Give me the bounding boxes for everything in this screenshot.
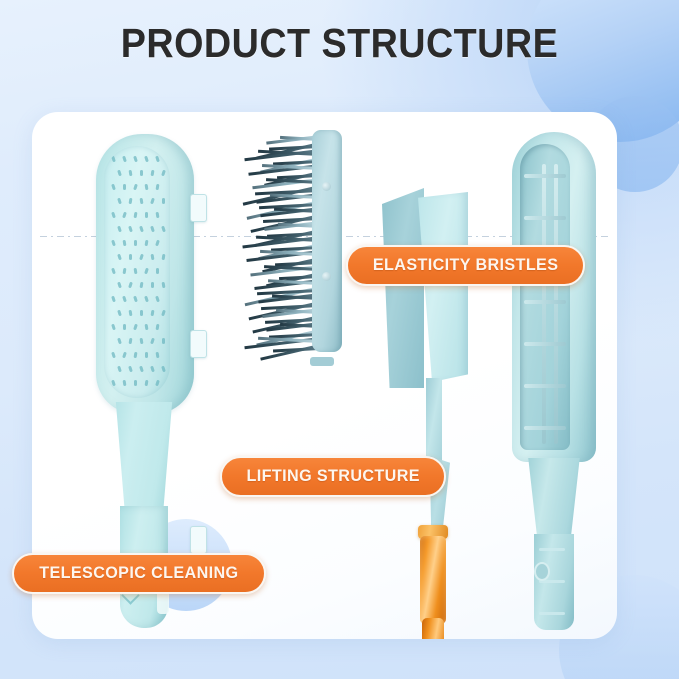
back-plate-rib-1 — [524, 174, 566, 178]
back-plate-taper — [526, 458, 582, 538]
component-perforated-brush-head — [78, 134, 228, 604]
telescoping-rod-segment-2 — [422, 618, 444, 639]
label-elasticity-bristles-text: ELASTICITY BRISTLES — [373, 255, 558, 275]
telescoping-rod-segment-1 — [420, 536, 446, 624]
label-lifting-structure-text: LIFTING STRUCTURE — [247, 466, 420, 486]
label-lifting-structure[interactable]: LIFTING STRUCTURE — [220, 456, 446, 497]
infographic-canvas: PRODUCT STRUCTURE — [0, 0, 679, 679]
back-plate-hole — [534, 562, 550, 581]
back-plate-cavity — [520, 144, 570, 450]
back-plate-rib-6 — [524, 384, 566, 388]
back-plate-rib-5 — [524, 342, 566, 346]
bristle-plate-dot-lower — [322, 272, 331, 281]
component-bristle-pad — [228, 130, 358, 360]
label-elasticity-bristles[interactable]: ELASTICITY BRISTLES — [346, 245, 585, 286]
bristle-plate-foot — [310, 357, 334, 366]
bristle-plate-dot-upper — [322, 182, 331, 191]
brush-head-tab-mid — [190, 330, 207, 358]
back-plate-rib-2 — [524, 216, 566, 220]
bristle-backing-plate — [312, 130, 342, 352]
back-plate-rib-4 — [524, 300, 566, 304]
perforation-holes — [104, 146, 170, 398]
page-title: PRODUCT STRUCTURE — [27, 20, 652, 66]
back-plate-grip-line-1 — [539, 548, 565, 551]
lifting-block-left-face — [382, 188, 424, 388]
back-plate-grip — [534, 534, 574, 630]
back-plate-vertical-rib-1 — [542, 164, 546, 444]
back-plate-grip-line-3 — [539, 612, 565, 615]
label-telescopic-cleaning[interactable]: TELESCOPIC CLEANING — [12, 553, 266, 594]
brush-head-tab-lower — [190, 526, 207, 554]
back-plate-rib-7 — [524, 426, 566, 430]
brush-head-neck — [112, 402, 176, 512]
component-back-plate — [504, 132, 617, 612]
brush-head-perforated-plate — [104, 146, 170, 398]
bristle-rows — [228, 132, 320, 350]
lifting-block-right-face — [418, 192, 468, 382]
back-plate-vertical-rib-2 — [554, 164, 558, 444]
brush-head-tab-upper — [190, 194, 207, 222]
label-telescopic-cleaning-text: TELESCOPIC CLEANING — [39, 563, 238, 583]
